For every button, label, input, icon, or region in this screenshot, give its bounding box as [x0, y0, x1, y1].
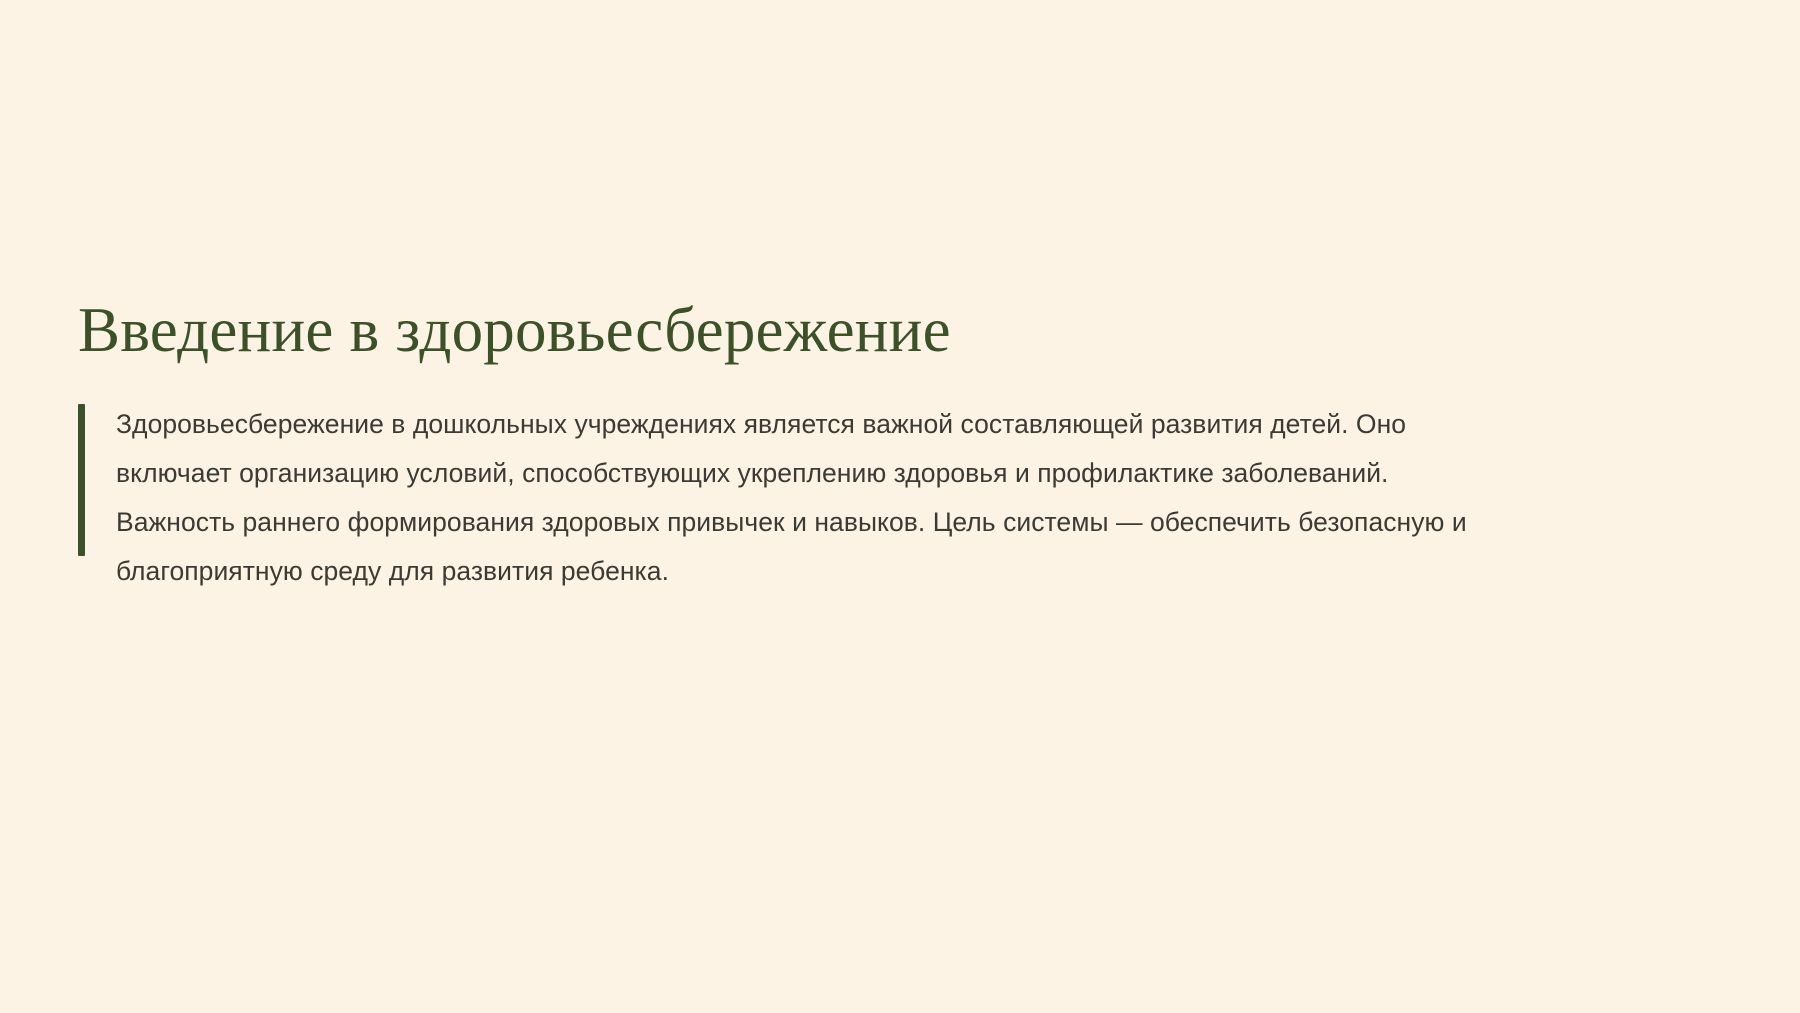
body-paragraph: Здоровьесбережение в дошкольных учрежден…	[116, 400, 1486, 596]
slide-canvas: Введение в здоровьесбережение Здоровьесб…	[0, 0, 1800, 1013]
accent-bar	[78, 404, 85, 556]
slide-content: Введение в здоровьесбережение Здоровьесб…	[78, 296, 1708, 596]
page-title: Введение в здоровьесбережение	[78, 296, 1708, 364]
body-callout-block: Здоровьесбережение в дошкольных учрежден…	[78, 400, 1708, 596]
